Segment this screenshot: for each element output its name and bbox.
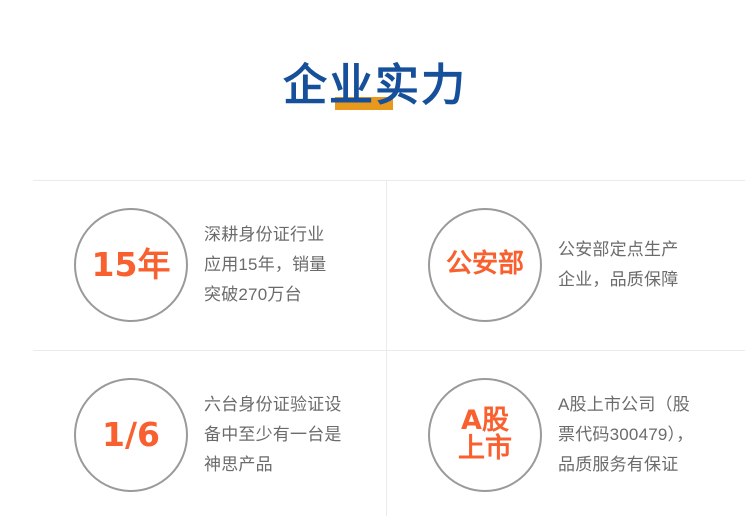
- description-line: 备中至少有一台是: [204, 420, 376, 450]
- card-description: 六台身份证验证设 备中至少有一台是 神思产品: [204, 390, 376, 480]
- badge-label-line: A股: [461, 405, 509, 436]
- strength-card: 15年 深耕身份证行业 应用15年，销量 突破270万台: [33, 180, 386, 350]
- description-line: A股上市公司（股: [558, 390, 733, 420]
- description-line: 深耕身份证行业: [204, 220, 376, 250]
- description-line: 应用15年，销量: [204, 250, 376, 280]
- title-wrap: 企业实力: [283, 64, 467, 108]
- description-line: 票代码300479），: [558, 420, 733, 450]
- description-line: 神思产品: [204, 450, 376, 480]
- description-line: 突破270万台: [204, 280, 376, 310]
- badge-circle: 1/6: [74, 378, 188, 492]
- strength-card: A股 上市 A股上市公司（股 票代码300479）， 品质服务有保证: [387, 350, 740, 516]
- strength-card: 1/6 六台身份证验证设 备中至少有一台是 神思产品: [33, 350, 386, 516]
- card-description: 深耕身份证行业 应用15年，销量 突破270万台: [204, 220, 376, 310]
- card-description: A股上市公司（股 票代码300479）， 品质服务有保证: [558, 390, 733, 480]
- page-title-block: 企业实力: [0, 64, 750, 124]
- description-line: 品质服务有保证: [558, 450, 733, 480]
- strength-grid: 15年 深耕身份证行业 应用15年，销量 突破270万台 公安部 公安部定点生产…: [33, 180, 745, 516]
- card-description: 公安部定点生产 企业，品质保障: [558, 235, 733, 295]
- badge-label: 1/6: [102, 418, 160, 453]
- description-line: 企业，品质保障: [558, 265, 733, 295]
- enterprise-strength-page: 企业实力 15年 深耕身份证行业 应用15年，销量 突破270万台 公安部 公安…: [0, 0, 750, 516]
- badge-label: A股 上市: [458, 407, 512, 464]
- badge-circle: 公安部: [428, 208, 542, 322]
- badge-label-line: 上市: [458, 433, 512, 464]
- badge-label: 公安部: [446, 251, 524, 278]
- badge-label: 15年: [92, 248, 171, 283]
- description-line: 六台身份证验证设: [204, 390, 376, 420]
- page-title: 企业实力: [283, 60, 467, 111]
- badge-circle: A股 上市: [428, 378, 542, 492]
- description-line: 公安部定点生产: [558, 235, 733, 265]
- badge-circle: 15年: [74, 208, 188, 322]
- strength-card: 公安部 公安部定点生产 企业，品质保障: [387, 180, 740, 350]
